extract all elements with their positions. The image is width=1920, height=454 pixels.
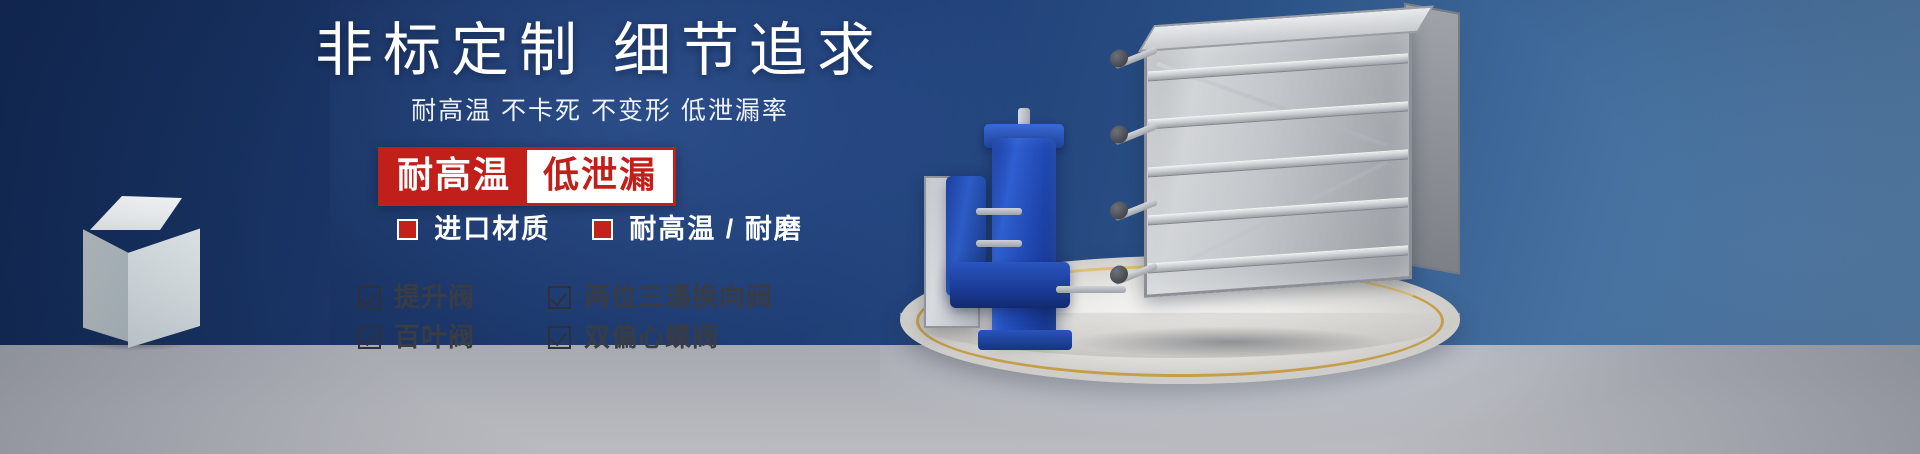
checkmark-icon — [358, 326, 381, 349]
product-checklist: 提升阀 两位三通换向阀 百叶阀 双偏心蝶阀 — [358, 283, 773, 351]
checklist-label: 双偏心蝶阀 — [584, 323, 719, 351]
checklist-item: 百叶阀 — [358, 323, 548, 351]
bullet-item: 进口材质 — [397, 215, 550, 244]
damper-side-panel — [1404, 3, 1460, 275]
checklist-item: 双偏心蝶阀 — [548, 323, 773, 351]
cube-left-face — [83, 222, 129, 342]
subheadline: 耐高温 不卡死 不变形 低泄漏率 — [300, 94, 900, 128]
red-square-icon — [397, 219, 418, 240]
checkmark-icon — [358, 286, 381, 309]
actuator-base — [978, 330, 1072, 350]
hydraulic-pipe — [976, 208, 1022, 215]
badge-heat-resistance: 耐高温 — [381, 150, 527, 203]
hydraulic-manifold — [950, 262, 1070, 308]
bullet-label: 耐高温 / 耐磨 — [629, 215, 803, 244]
checklist-item: 提升阀 — [358, 283, 548, 311]
product-illustration — [880, 0, 1920, 454]
red-square-icon — [592, 219, 613, 240]
checklist-item: 两位三通换向阀 — [548, 283, 773, 311]
product-shadow — [1030, 322, 1430, 362]
bullet-list: 进口材质 耐高温 / 耐磨 — [300, 215, 900, 244]
cube-top-face — [82, 196, 182, 230]
checkmark-icon — [548, 286, 571, 309]
badge-low-leakage: 低泄漏 — [527, 150, 673, 203]
promo-banner: 非标定制 细节追求 耐高温 不卡死 不变形 低泄漏率 耐高温 低泄漏 进口材质 … — [0, 0, 1920, 454]
cube-right-face — [128, 226, 200, 348]
headline: 非标定制 细节追求 — [300, 18, 900, 84]
hydraulic-pipe — [1056, 286, 1126, 293]
louver-damper-assembly — [1104, 0, 1464, 323]
hydraulic-actuator-cylinder — [992, 138, 1056, 338]
checklist-label: 两位三通换向阀 — [584, 283, 773, 311]
checklist-label: 提升阀 — [394, 283, 475, 311]
hydraulic-pipe — [976, 240, 1022, 247]
feature-badge: 耐高温 低泄漏 — [378, 147, 676, 206]
white-cube — [62, 196, 198, 346]
checklist-label: 百叶阀 — [394, 323, 475, 351]
checkmark-icon — [548, 326, 571, 349]
bullet-label: 进口材质 — [434, 215, 550, 244]
bullet-item: 耐高温 / 耐磨 — [592, 215, 803, 244]
copy-block: 非标定制 细节追求 耐高温 不卡死 不变形 低泄漏率 耐高温 低泄漏 进口材质 … — [300, 0, 900, 454]
